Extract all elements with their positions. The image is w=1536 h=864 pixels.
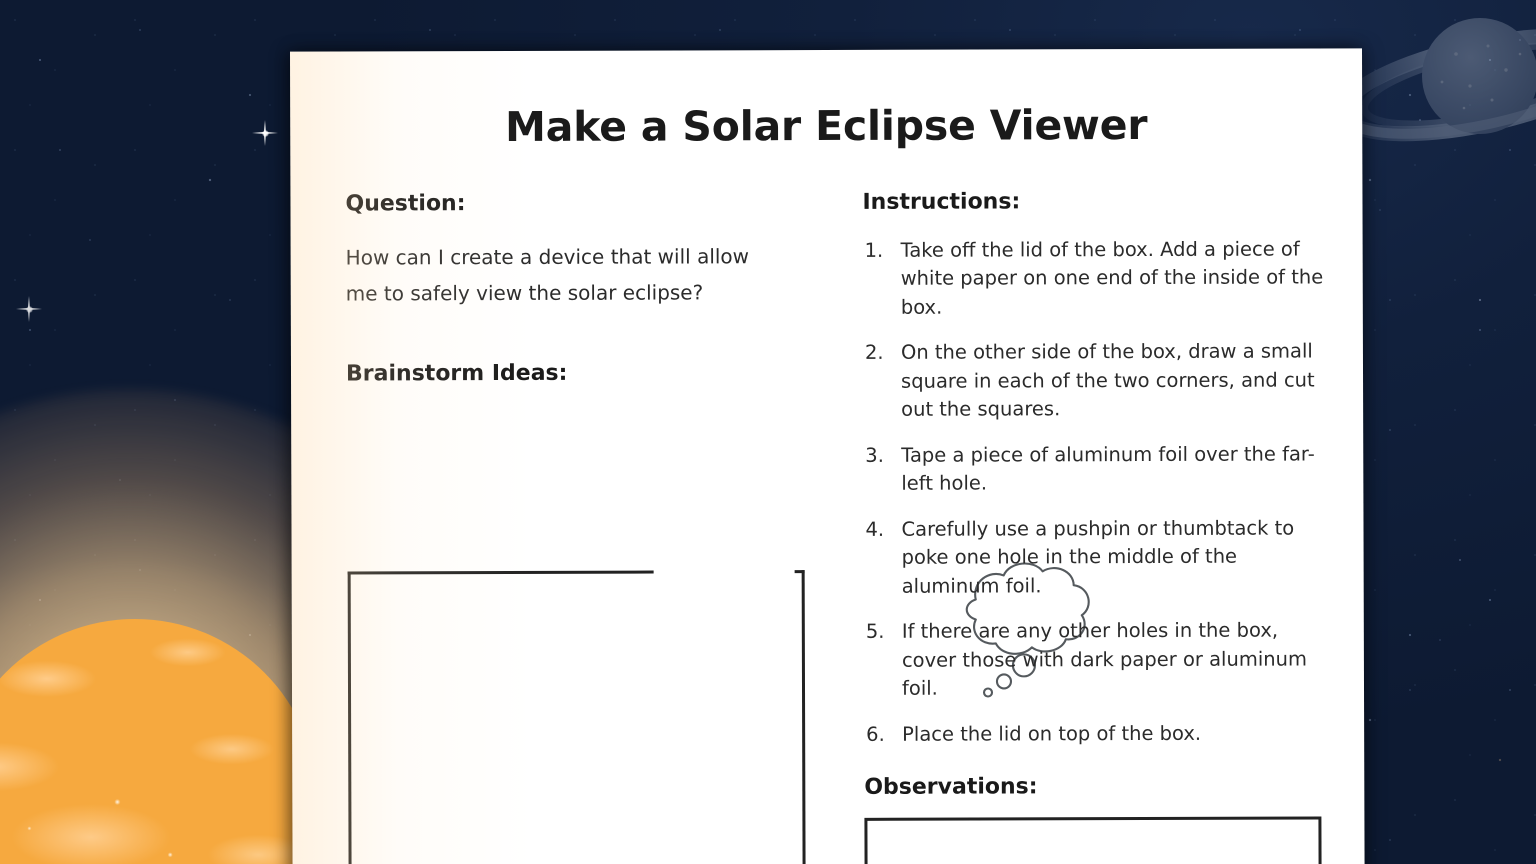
right-column: Instructions: 1. Take off the lid of the… (862, 188, 1334, 864)
space-background: Make a Solar Eclipse Viewer Question: Ho… (0, 0, 1536, 864)
sun-texture (0, 619, 318, 864)
list-item: 2. On the other side of the box, draw a … (863, 338, 1333, 425)
list-item: 3. Tape a piece of aluminum foil over th… (863, 440, 1333, 498)
list-item: 6. Place the lid on top of the box. (864, 719, 1334, 749)
list-item-text: If there are any other holes in the box,… (902, 619, 1307, 700)
brainstorm-box-top-rule-right (795, 570, 805, 573)
question-heading: Question: (345, 190, 815, 216)
list-item: 5. If there are any other holes in the b… (864, 617, 1334, 704)
brainstorm-box-top-rule-left (348, 571, 654, 575)
list-item-number: 3. (865, 442, 884, 471)
sun-icon (0, 619, 318, 864)
sparkle-star-icon-2 (20, 300, 38, 318)
list-item-text: On the other side of the box, draw a sma… (901, 340, 1315, 421)
list-item-number: 6. (866, 720, 885, 749)
instructions-list: 1. Take off the lid of the box. Add a pi… (863, 235, 1335, 749)
worksheet-columns: Question: How can I create a device that… (290, 188, 1364, 864)
list-item-number: 5. (866, 618, 885, 647)
question-text: How can I create a device that will allo… (346, 239, 786, 312)
list-item-text: Place the lid on top of the box. (902, 721, 1201, 745)
page-title: Make a Solar Eclipse Viewer (290, 48, 1362, 151)
observations-answer-box[interactable] (864, 816, 1321, 864)
list-item-number: 2. (865, 339, 884, 368)
list-item-number: 4. (865, 516, 884, 545)
list-item: 1. Take off the lid of the box. Add a pi… (863, 235, 1333, 322)
list-item-text: Tape a piece of aluminum foil over the f… (901, 442, 1315, 495)
sparkle-star-icon (252, 120, 278, 146)
list-item-text: Carefully use a pushpin or thumbtack to … (901, 516, 1294, 597)
worksheet-page: Make a Solar Eclipse Viewer Question: Ho… (290, 48, 1365, 864)
instructions-heading: Instructions: (862, 188, 1332, 214)
sparkle-core (26, 306, 33, 313)
sparkle-core (262, 130, 269, 137)
observations-heading: Observations: (864, 773, 1334, 799)
brainstorm-answer-box[interactable] (348, 570, 807, 864)
left-column: Question: How can I create a device that… (345, 190, 816, 387)
list-item: 4. Carefully use a pushpin or thumbtack … (863, 514, 1333, 601)
list-item-text: Take off the lid of the box. Add a piece… (901, 238, 1324, 319)
list-item-number: 1. (865, 237, 884, 266)
brainstorm-heading: Brainstorm Ideas: (346, 360, 816, 386)
